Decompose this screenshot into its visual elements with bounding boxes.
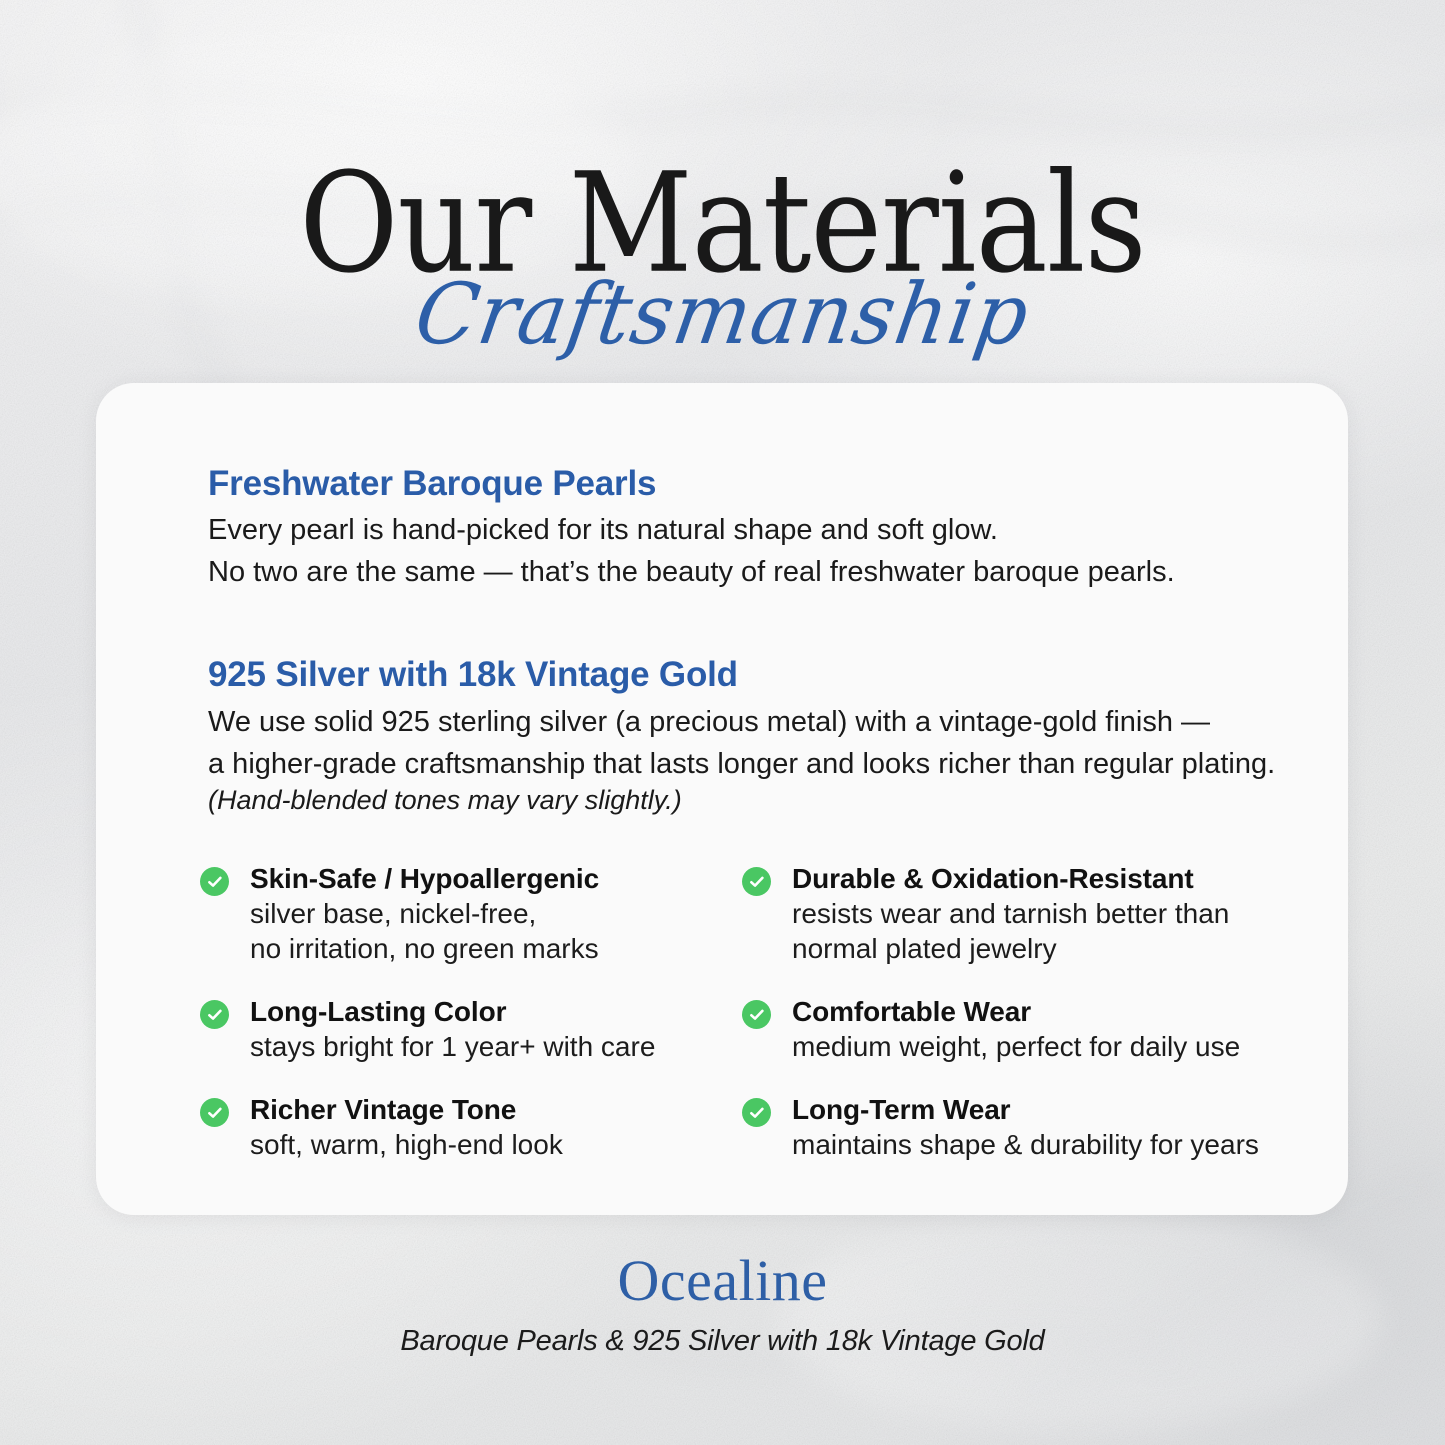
section-body-silver-line2: a higher-grade craftsmanship that lasts …: [208, 743, 1275, 785]
feature-description: stays bright for 1 year+ with care: [250, 1029, 655, 1064]
footer: Ocealine Baroque Pearls & 925 Silver wit…: [0, 1248, 1445, 1358]
feature-description: maintains shape & durability for years: [792, 1127, 1259, 1162]
brand-logo-text: Ocealine: [0, 1248, 1445, 1314]
feature-item: Durable & Oxidation-Resistant resists we…: [742, 861, 1270, 966]
materials-card: Freshwater Baroque Pearls Every pearl is…: [96, 383, 1348, 1215]
section-body-pearls-line2: No two are the same — that’s the beauty …: [208, 551, 1175, 593]
feature-description: soft, warm, high-end look: [250, 1127, 563, 1162]
feature-title: Richer Vintage Tone: [250, 1092, 563, 1127]
section-heading-silver: 925 Silver with 18k Vintage Gold: [208, 655, 738, 695]
header: Our Materials Craftsmanship: [0, 0, 1445, 380]
feature-item: Skin-Safe / Hypoallergenic silver base, …: [200, 861, 728, 966]
section-note-silver: (Hand-blended tones may vary slightly.): [208, 785, 682, 816]
feature-title: Long-Lasting Color: [250, 994, 655, 1029]
check-circle-icon: [742, 867, 771, 896]
section-heading-pearls: Freshwater Baroque Pearls: [208, 464, 656, 504]
feature-grid: Skin-Safe / Hypoallergenic silver base, …: [200, 861, 1270, 1162]
feature-description: medium weight, perfect for daily use: [792, 1029, 1240, 1064]
section-body-pearls-line1: Every pearl is hand-picked for its natur…: [208, 509, 1175, 551]
check-circle-icon: [742, 1000, 771, 1029]
feature-item: Comfortable Wear medium weight, perfect …: [742, 994, 1270, 1064]
brand-tagline: Baroque Pearls & 925 Silver with 18k Vin…: [0, 1325, 1445, 1358]
check-circle-icon: [200, 1000, 229, 1029]
feature-description: silver base, nickel-free, no irritation,…: [250, 896, 599, 966]
section-body-silver: We use solid 925 sterling silver (a prec…: [208, 701, 1275, 785]
check-circle-icon: [742, 1098, 771, 1127]
page-subtitle-script: Craftsmanship: [22, 272, 1423, 356]
feature-item: Long-Lasting Color stays bright for 1 ye…: [200, 994, 728, 1064]
feature-item: Richer Vintage Tone soft, warm, high-end…: [200, 1092, 728, 1162]
section-body-silver-line1: We use solid 925 sterling silver (a prec…: [208, 701, 1275, 743]
check-circle-icon: [200, 1098, 229, 1127]
feature-item: Long-Term Wear maintains shape & durabil…: [742, 1092, 1270, 1162]
check-circle-icon: [200, 867, 229, 896]
feature-title: Long-Term Wear: [792, 1092, 1259, 1127]
section-body-pearls: Every pearl is hand-picked for its natur…: [208, 509, 1175, 593]
feature-title: Comfortable Wear: [792, 994, 1240, 1029]
feature-description: resists wear and tarnish better than nor…: [792, 896, 1229, 966]
feature-title: Skin-Safe / Hypoallergenic: [250, 861, 599, 896]
feature-title: Durable & Oxidation-Resistant: [792, 861, 1229, 896]
